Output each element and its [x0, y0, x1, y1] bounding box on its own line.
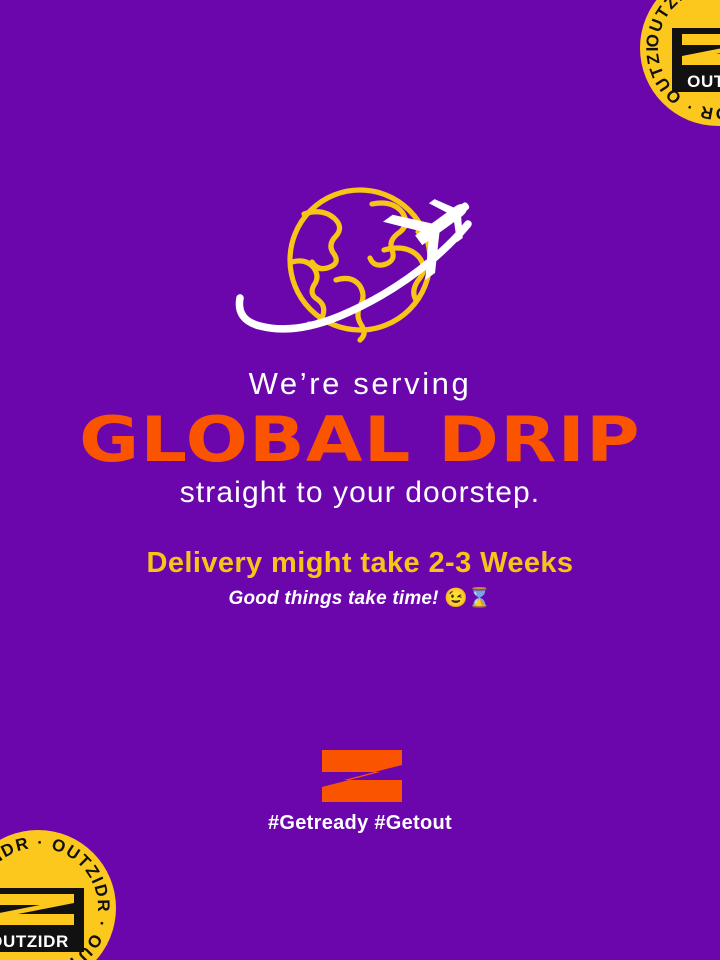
outzidr-z-logo	[322, 750, 402, 802]
outzidr-stamp-top-right: OUTZIDR · OUTZIDR · OUTZIDR · OUTZIDR · …	[640, 0, 720, 126]
delivery-notice: Delivery might take 2-3 Weeks	[0, 549, 720, 578]
page-title: GLOBAL DRIP	[0, 404, 720, 475]
svg-text:OUTZIDR: OUTZIDR	[0, 932, 69, 951]
outzidr-stamp-bottom-left: OUTZIDR · OUTZIDR · OUTZIDR · OUTZIDR · …	[0, 830, 116, 960]
doorstep-line: straight to your doorstep.	[0, 478, 720, 508]
tagline-emoji: 😉⌛	[444, 588, 491, 609]
tagline: Good things take time! 😉⌛	[0, 589, 720, 608]
tagline-text: Good things take time!	[228, 588, 438, 609]
promotional-poster: We’re serving GLOBAL DRIP straight to yo…	[0, 0, 720, 960]
svg-text:OUTZIDR: OUTZIDR	[687, 72, 720, 91]
globe-with-airplane-icon	[232, 170, 488, 350]
serving-line: We’re serving	[0, 368, 720, 399]
